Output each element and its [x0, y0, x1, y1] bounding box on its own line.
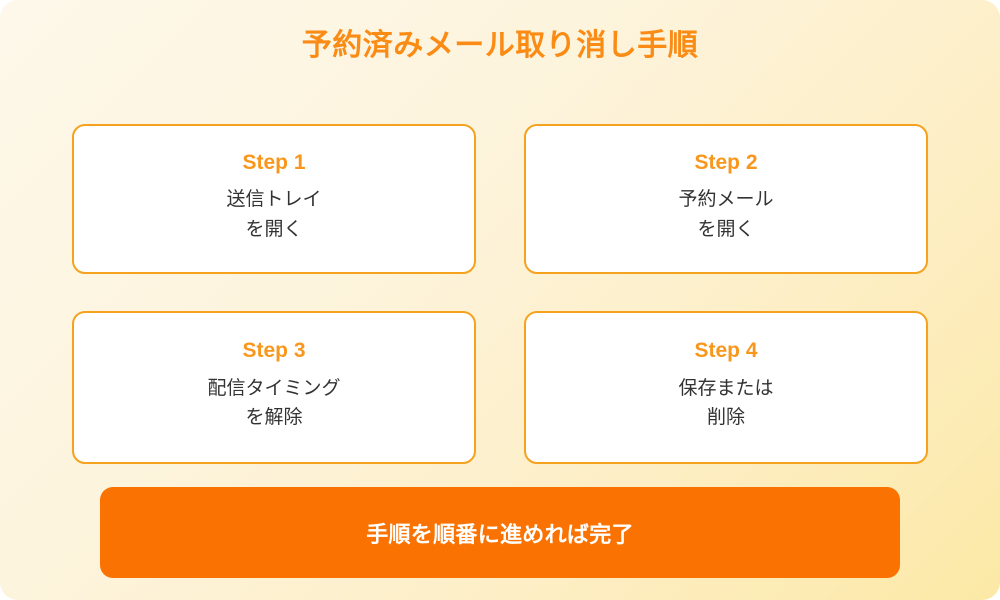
- step-card-1-line1: 送信トレイ: [226, 189, 321, 210]
- step-card-4-line1: 保存または: [678, 378, 773, 399]
- step-card-3-body: 配信タイミング を解除: [207, 374, 340, 433]
- infographic-canvas: 予約済みメール取り消し手順 Step 1 送信トレイ を開く Step 2 予約…: [0, 0, 1000, 600]
- step-card-3-line2: を解除: [207, 403, 340, 432]
- step-card-3[interactable]: Step 3 配信タイミング を解除: [72, 311, 476, 464]
- step-card-1-line2: を開く: [226, 215, 321, 244]
- step-card-4-body: 保存または 削除: [678, 374, 773, 433]
- step-card-2-label: Step 2: [694, 150, 757, 175]
- step-card-2-line2: を開く: [678, 215, 773, 244]
- step-card-2[interactable]: Step 2 予約メール を開く: [524, 124, 928, 274]
- step-card-3-line1: 配信タイミング: [207, 378, 340, 399]
- page-title: 予約済みメール取り消し手順: [0, 28, 1000, 64]
- steps-grid: Step 1 送信トレイ を開く Step 2 予約メール を開く Step 3…: [72, 124, 928, 464]
- step-card-3-label: Step 3: [242, 338, 305, 363]
- summary-banner[interactable]: 手順を順番に進めれば完了: [100, 487, 900, 578]
- step-card-1-label: Step 1: [242, 150, 305, 175]
- step-card-4-line2: 削除: [678, 403, 773, 432]
- summary-banner-text: 手順を順番に進めれば完了: [366, 517, 634, 549]
- step-card-2-line1: 予約メール: [678, 189, 773, 210]
- step-card-1[interactable]: Step 1 送信トレイ を開く: [72, 124, 476, 274]
- step-card-4[interactable]: Step 4 保存または 削除: [524, 311, 928, 464]
- step-card-4-label: Step 4: [694, 338, 757, 363]
- step-card-1-body: 送信トレイ を開く: [226, 185, 321, 244]
- step-card-2-body: 予約メール を開く: [678, 185, 773, 244]
